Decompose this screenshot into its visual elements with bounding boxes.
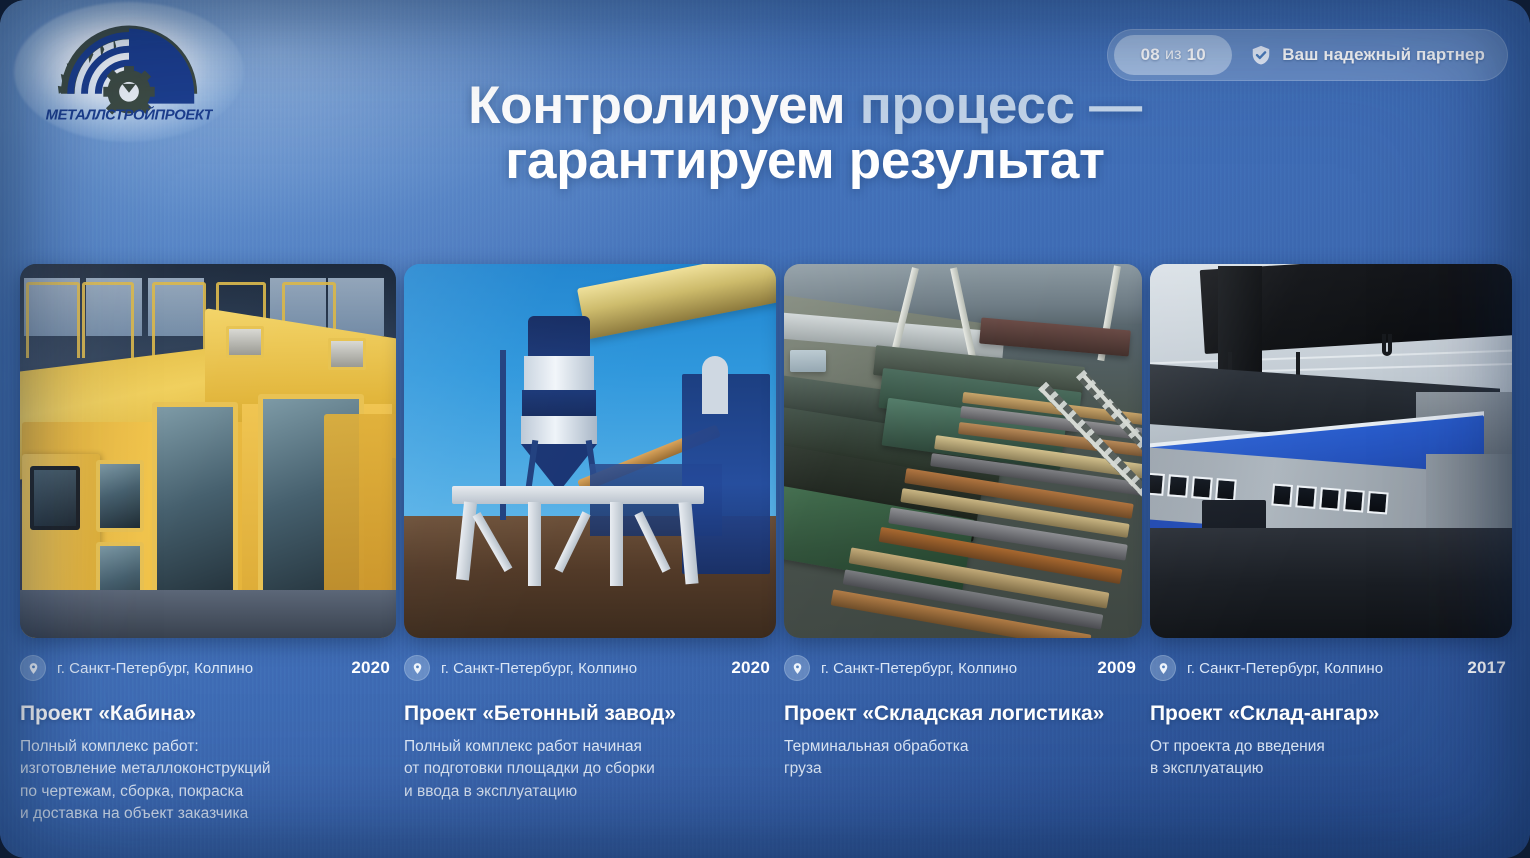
card-title: Проект «Кабина»	[20, 702, 396, 726]
card-meta: г. Санкт-Петербург, Колпино 2009	[784, 648, 1142, 688]
card-city: г. Санкт-Петербург, Колпино	[441, 660, 637, 677]
card-year: 2020	[731, 658, 770, 678]
logo-mark-icon: МЕТАЛЛСТРОЙПРОЕКТ	[45, 20, 213, 124]
project-photo-crane-cabin	[20, 264, 396, 638]
card-description: Терминальная обработка груза	[784, 736, 1142, 781]
map-pin-icon	[20, 655, 46, 681]
card-city: г. Санкт-Петербург, Колпино	[57, 660, 253, 677]
map-pin-icon	[1150, 655, 1176, 681]
card-title: Проект «Склад-ангар»	[1150, 702, 1512, 726]
presentation-slide: МЕТАЛЛСТРОЙПРОЕКТ 08 из 10 Ваш надежный …	[0, 0, 1530, 858]
header-badge: 08 из 10 Ваш надежный партнер	[1107, 29, 1508, 81]
logo-wordmark: МЕТАЛЛСТРОЙПРОЕКТ	[46, 105, 213, 123]
project-card[interactable]: г. Санкт-Петербург, Колпино 2017 Проект …	[1150, 264, 1512, 844]
card-description: Полный комплекс работ начиная от подгото…	[404, 736, 776, 803]
project-card[interactable]: г. Санкт-Петербург, Колпино 2009 Проект …	[784, 264, 1142, 844]
card-meta: г. Санкт-Петербург, Колпино 2020	[404, 648, 776, 688]
slide-counter: 08 из 10	[1114, 35, 1232, 75]
title-line-1: Контролируем процесс —	[80, 78, 1530, 133]
project-photo-warehouse-logistics	[784, 264, 1142, 638]
map-pin-icon	[784, 655, 810, 681]
card-description: Полный комплекс работ: изготовление мета…	[20, 736, 396, 826]
card-meta: г. Санкт-Петербург, Колпино 2020	[20, 648, 396, 688]
partner-group: Ваш надежный партнер	[1250, 44, 1485, 66]
card-description: От проекта до введения в эксплуатацию	[1150, 736, 1512, 781]
card-city: г. Санкт-Петербург, Колпино	[1187, 660, 1383, 677]
card-year: 2009	[1097, 658, 1136, 678]
shield-check-icon	[1250, 44, 1272, 66]
project-cards: г. Санкт-Петербург, Колпино 2020 Проект …	[20, 264, 1512, 844]
map-pin-icon	[404, 655, 430, 681]
title-muted: процесс —	[860, 76, 1142, 135]
slide-counter-current: 08	[1141, 45, 1160, 65]
title-line-2: гарантируем результат	[80, 133, 1530, 188]
project-card[interactable]: г. Санкт-Петербург, Колпино 2020 Проект …	[20, 264, 396, 844]
card-year: 2020	[351, 658, 390, 678]
project-photo-warehouse-hangar	[1150, 264, 1512, 638]
card-title: Проект «Бетонный завод»	[404, 702, 776, 726]
slide-counter-total: 10	[1187, 45, 1206, 65]
project-photo-concrete-plant	[404, 264, 776, 638]
card-year: 2017	[1467, 658, 1506, 678]
card-city: г. Санкт-Петербург, Колпино	[821, 660, 1017, 677]
card-meta: г. Санкт-Петербург, Колпино 2017	[1150, 648, 1512, 688]
company-logo: МЕТАЛЛСТРОЙПРОЕКТ	[16, 4, 242, 140]
partner-label: Ваш надежный партнер	[1282, 45, 1485, 65]
project-card[interactable]: г. Санкт-Петербург, Колпино 2020 Проект …	[404, 264, 776, 844]
card-title: Проект «Складская логистика»	[784, 702, 1142, 726]
slide-counter-separator: из	[1165, 46, 1182, 64]
title-strong: Контролируем	[468, 76, 860, 135]
